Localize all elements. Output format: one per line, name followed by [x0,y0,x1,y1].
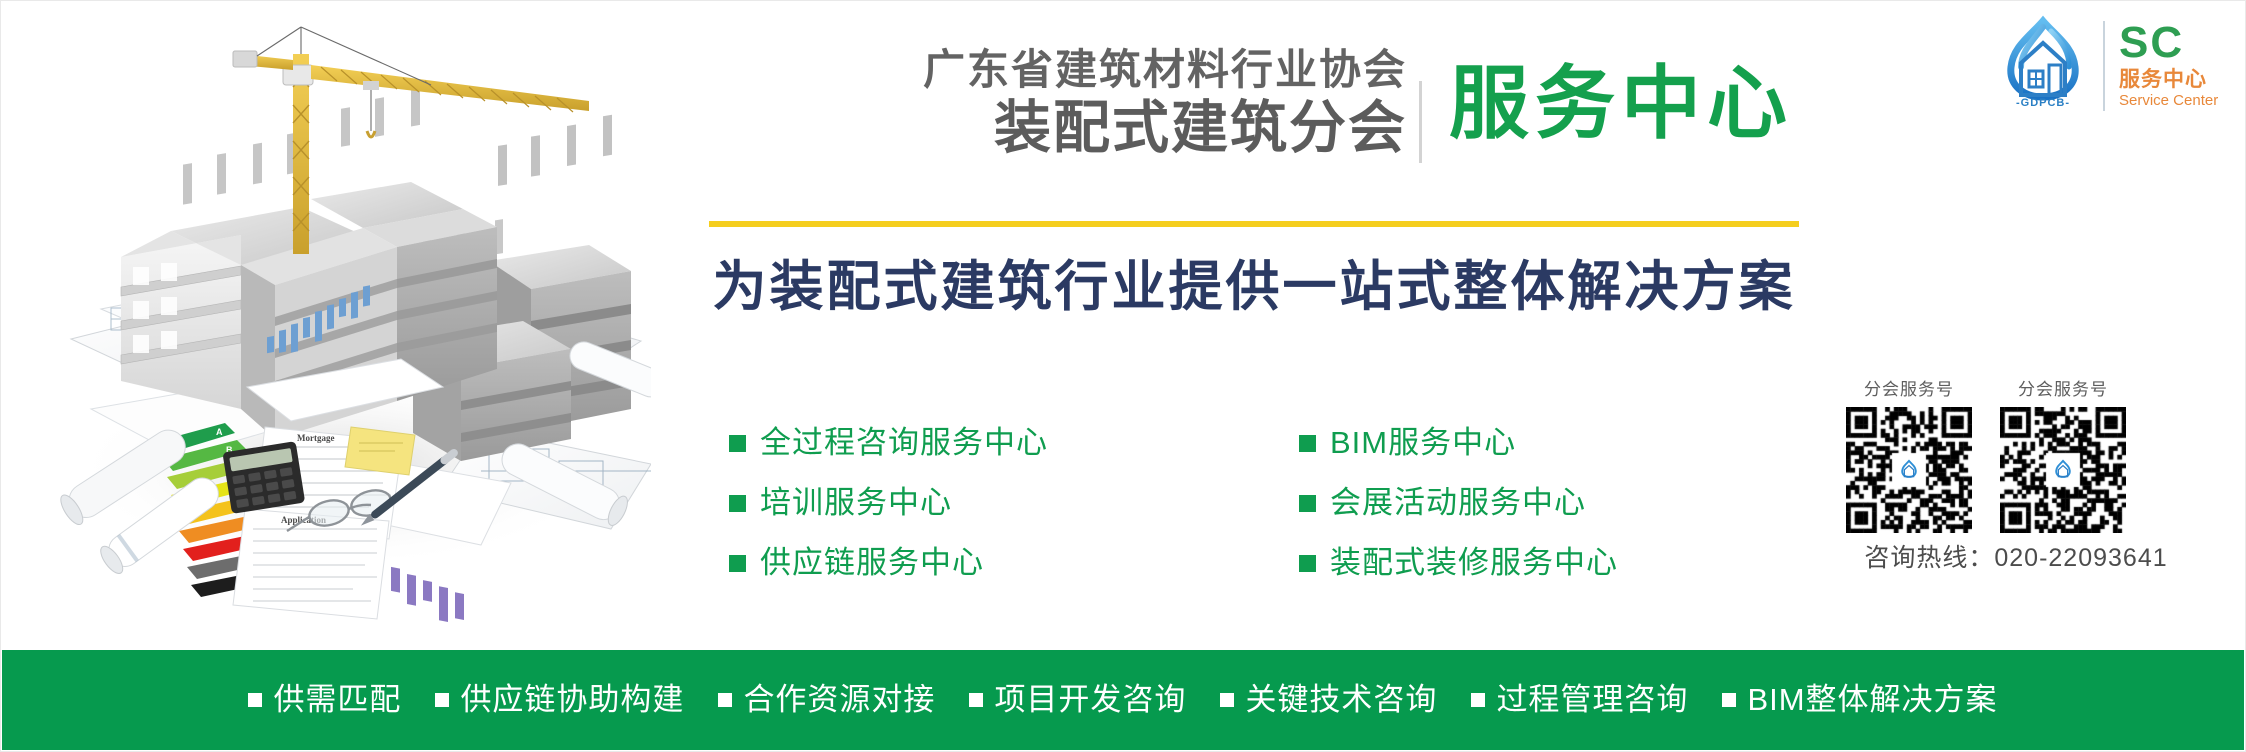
bottom-bar-label: BIM整体解决方案 [1747,683,1997,717]
qr-cell: 分会服务号 [2000,379,2126,533]
service-column-left: 全过程咨询服务中心 培训服务中心 供应链服务中心 [729,413,1048,593]
service-item[interactable]: 装配式装修服务中心 [1299,533,1618,593]
square-bullet-icon [435,693,449,707]
yellow-divider-rule [709,221,1799,227]
sticky-note [345,427,415,475]
square-bullet-icon [1299,435,1316,452]
square-bullet-icon [718,693,732,707]
title-vertical-divider [1419,81,1422,163]
square-bullet-icon [1299,555,1316,572]
qr-caption: 分会服务号 [1846,379,1972,401]
square-bullet-icon [969,693,983,707]
service-item[interactable]: 供应链服务中心 [729,533,1048,593]
square-bullet-icon [729,555,746,572]
gdpcb-wordmark: -GDPCB- [1991,97,2095,109]
square-bullet-icon [248,693,262,707]
service-item[interactable]: 培训服务中心 [729,473,1048,533]
service-column-right: BIM服务中心 会展活动服务中心 装配式装修服务中心 [1299,413,1618,593]
bottom-bar-item[interactable]: 供应链协助构建 [435,683,684,717]
square-bullet-icon [1220,693,1234,707]
bottom-bar-item[interactable]: 过程管理咨询 [1471,683,1688,717]
service-center-heading: 服务中心 [1449,54,1793,154]
qr-cell: 分会服务号 [1846,379,1972,533]
bottom-bar-item[interactable]: 供需匹配 [248,683,401,717]
bottom-bar-item[interactable]: 关键技术咨询 [1220,683,1437,717]
svg-text:Mortgage: Mortgage [297,433,334,443]
service-item-label: 全过程咨询服务中心 [760,426,1048,460]
bottom-bar-item[interactable]: 项目开发咨询 [969,683,1186,717]
sc-initials: SC [2119,21,2184,65]
sc-logo: -GDPCB- SC 服务中心 Service Center [1991,15,2241,115]
hotline-text: 咨询热线：020-22093641 [1846,543,2186,573]
service-item-label: 培训服务中心 [760,486,952,520]
banner-subtitle: 为装配式建筑行业提供一站式整体解决方案 [709,254,1799,320]
association-name-line1: 广东省建筑材料行业协会 [597,45,1407,95]
qr-contact-block: 分会服务号 分会服务号 [1846,379,2206,573]
service-item-label: 会展活动服务中心 [1330,486,1586,520]
calculator [222,441,305,514]
sc-english-label: Service Center [2119,93,2218,109]
square-bullet-icon [1471,693,1485,707]
bottom-bar-label: 关键技术咨询 [1245,683,1437,717]
service-item-label: 供应链服务中心 [760,546,984,580]
association-name-line2: 装配式建筑分会 [597,95,1407,161]
bottom-services-bar: 供需匹配 供应链协助构建 合作资源对接 项目开发咨询 关键技术咨询 过程管理咨询… [2,650,2244,750]
association-title: 广东省建筑材料行业协会 装配式建筑分会 [597,45,1407,161]
bottom-bar-label: 供应链协助构建 [460,683,684,717]
qr-center-logo-icon [1894,455,1924,485]
bottom-bar-label: 过程管理咨询 [1496,683,1688,717]
qr-center-logo-icon [2048,455,2078,485]
service-item[interactable]: 全过程咨询服务中心 [729,413,1048,473]
qr-caption: 分会服务号 [2000,379,2126,401]
square-bullet-icon [1722,693,1736,707]
sc-chinese-label: 服务中心 [2119,69,2207,91]
svg-text:A: A [216,427,223,437]
service-item-label: 装配式装修服务中心 [1330,546,1618,580]
service-item-label: BIM服务中心 [1330,426,1516,460]
promo-banner: ABC DEF GHI [0,0,2246,752]
service-item[interactable]: BIM服务中心 [1299,413,1618,473]
square-bullet-icon [729,435,746,452]
bottom-bar-label: 项目开发咨询 [994,683,1186,717]
qr-code-image[interactable] [1846,407,1972,533]
square-bullet-icon [1299,495,1316,512]
qr-code-image[interactable] [2000,407,2126,533]
construction-illustration: ABC DEF GHI [11,9,651,649]
bottom-bar-item[interactable]: 合作资源对接 [718,683,935,717]
service-item[interactable]: 会展活动服务中心 [1299,473,1618,533]
square-bullet-icon [729,495,746,512]
bottom-bar-item[interactable]: BIM整体解决方案 [1722,683,1997,717]
bottom-bar-label: 供需匹配 [273,683,401,717]
logo-vertical-divider [2103,21,2105,111]
bottom-bar-label: 合作资源对接 [743,683,935,717]
